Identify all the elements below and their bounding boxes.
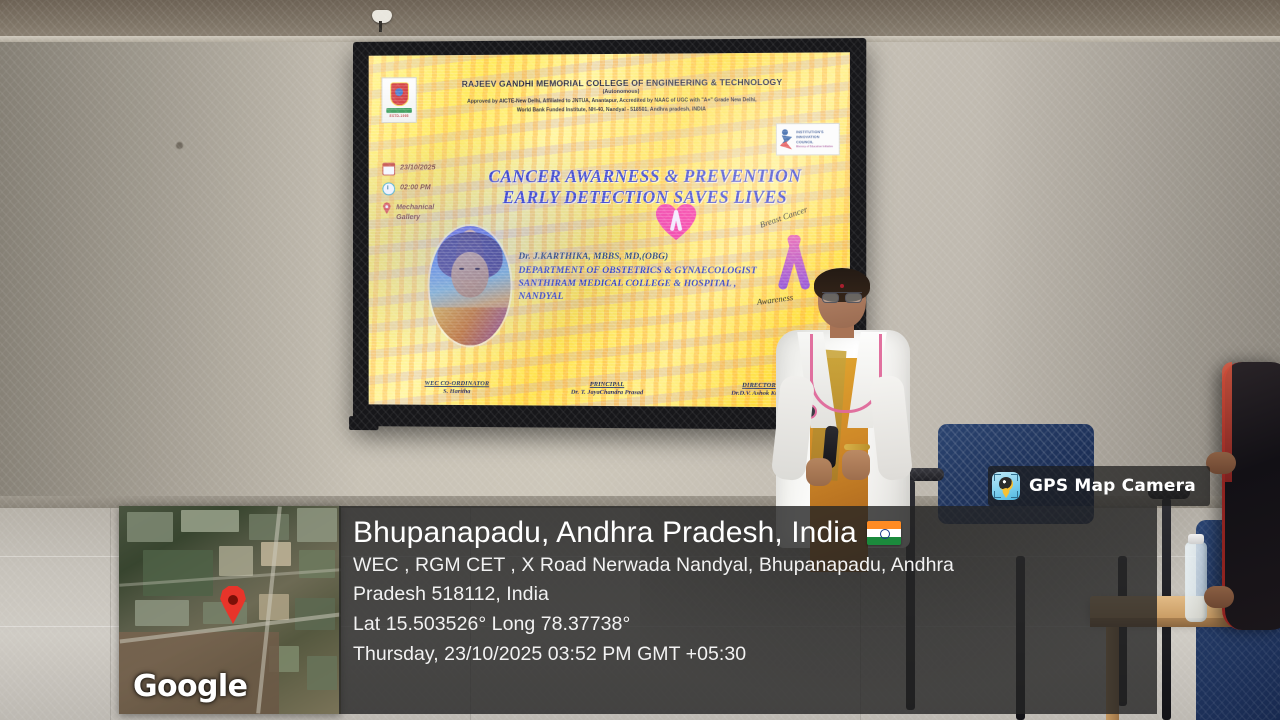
water-bottle [1185, 542, 1207, 622]
gps-map-camera-label: GPS Map Camera [1029, 476, 1196, 496]
google-attribution: Google [133, 669, 247, 704]
timestamp: Thursday, 23/10/2025 03:52 PM GMT +05:30 [353, 641, 1157, 669]
gps-camera-photo: ESTD-1995 RAJEEV GANDHI MEMORIAL COLLEGE… [0, 0, 1280, 720]
hand-finger [1206, 452, 1236, 474]
map-location-pin-icon [219, 586, 247, 624]
chair-seat [0, 0, 160, 42]
location-title-row: Bhupanapadu, Andhra Pradesh, India [353, 516, 1157, 550]
location-title: Bhupanapadu, Andhra Pradesh, India [353, 516, 857, 550]
address-line-2: Pradesh 518112, India [353, 581, 1143, 609]
gps-info-panel: Bhupanapadu, Andhra Pradesh, India WEC ,… [339, 506, 1157, 714]
address-line-1: WEC , RGM CET , X Road Nerwada Nandyal, … [353, 552, 1143, 580]
gps-map-camera-icon [992, 472, 1020, 500]
presenter-hand-left [806, 458, 832, 486]
india-flag-icon [867, 521, 901, 545]
presenter-bangle [844, 444, 870, 450]
presenter-bindi [840, 284, 844, 288]
presenter-hand-right [842, 450, 870, 480]
water-bottle-cap [1188, 534, 1204, 544]
map-thumbnail[interactable]: Google [119, 506, 341, 714]
eyeglasses-icon [822, 292, 862, 302]
coordinates: Lat 15.503526° Long 78.37738° [353, 611, 1157, 639]
gps-map-camera-watermark: GPS Map Camera [988, 466, 1210, 506]
hand-finger [1204, 586, 1234, 608]
